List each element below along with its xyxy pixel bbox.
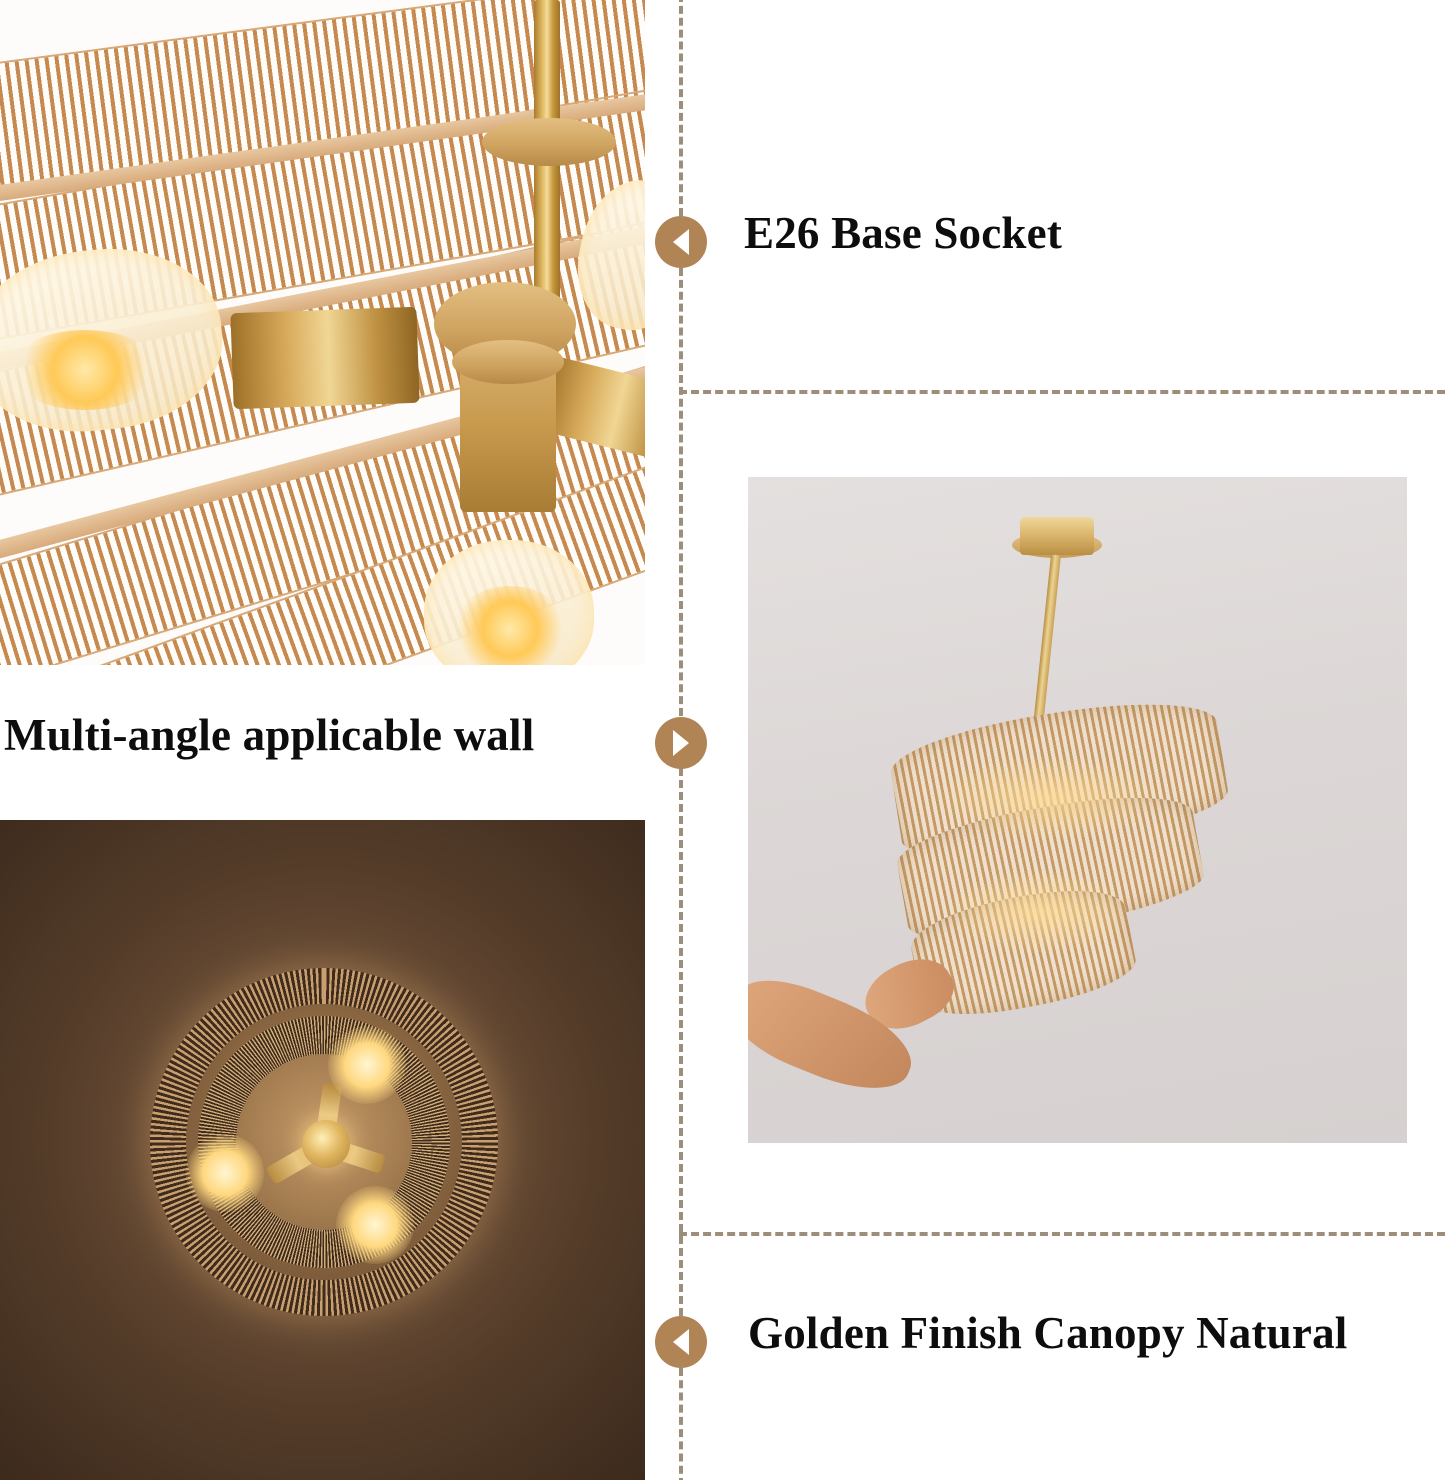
chevron-right-icon (664, 726, 698, 760)
lit-bulb-2 (186, 1134, 264, 1212)
lit-bulb-3 (336, 1186, 414, 1264)
photo-lit-from-below (0, 820, 645, 1480)
tier-inner-glow-upper (934, 755, 1164, 841)
bulb-left-filament-glow (10, 330, 160, 410)
chevron-left-icon (664, 225, 698, 259)
brass-lower-collar (452, 340, 564, 384)
vertical-divider-top (679, 0, 683, 216)
lit-bulb-1 (328, 1026, 406, 1104)
horizontal-divider-upper (679, 390, 1445, 394)
golden-canopy (1020, 517, 1094, 555)
vertical-divider-upper-mid (679, 268, 683, 716)
brass-center-hub (302, 1120, 350, 1168)
callout-marker-golden-finish-canopy-natural[interactable] (655, 1316, 707, 1368)
bulb-center-filament-glow (452, 586, 568, 665)
callout-label-multi-angle-applicable-wall: Multi-angle applicable wall (4, 709, 534, 761)
chevron-left-icon (664, 1325, 698, 1359)
vertical-divider-bottom (679, 1368, 683, 1480)
tier-inner-glow-lower (944, 869, 1134, 955)
product-infographic: E26 Base Socket Multi-angle applicable w… (0, 0, 1445, 1480)
photo-pendant-hand-tilt (748, 477, 1407, 1143)
brass-socket-left (230, 307, 419, 409)
horizontal-divider-lower (679, 1232, 1445, 1236)
callout-label-e26-base-socket: E26 Base Socket (744, 207, 1062, 259)
photo-socket-closeup (0, 0, 645, 665)
callout-marker-e26-base-socket[interactable] (655, 216, 707, 268)
brass-upper-disc (482, 118, 616, 166)
callout-label-golden-finish-canopy-natural: Golden Finish Canopy Natural (748, 1307, 1347, 1359)
callout-marker-multi-angle-applicable-wall[interactable] (655, 717, 707, 769)
